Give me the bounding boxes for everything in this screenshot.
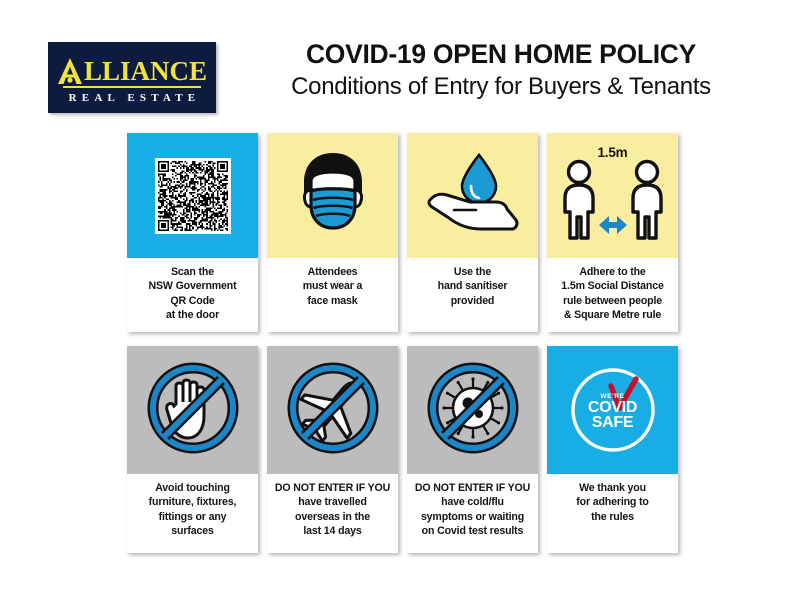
no-virus-icon [423,358,523,463]
qr-code-canvas [158,161,228,231]
card-no-touching: Avoid touching furniture, fixtures, fitt… [127,346,258,553]
logo-subtitle: REAL ESTATE [64,92,201,104]
card-text-area: Use the hand sanitiser provided [407,258,538,332]
card-text-area: Attendees must wear a face mask [267,258,398,332]
card-caption: DO NOT ENTER IF YOU have cold/flu sympto… [415,481,530,539]
qr-code-icon [155,158,231,234]
card-caption: Adhere to the 1.5m Social Distance rule … [561,265,663,323]
policy-card-grid: Scan the NSW Government QR Code at the d… [127,133,689,553]
face-mask-icon [292,149,374,242]
card-icon-area: 1.5m [547,133,678,258]
hand-sanitiser-icon [424,152,522,239]
card-social-distance: 1.5m [547,133,678,332]
poster-subtitle: Conditions of Entry for Buyers & Tenants [236,72,766,102]
covid-safe-line3: SAFE [567,415,659,431]
logo-wordmark-text: LLIANCE [84,58,207,85]
card-text-area: We thank you for adhering to the rules [547,474,678,553]
covid-policy-poster: LLIANCE REAL ESTATE COVID-19 OPEN HOME P… [0,0,800,600]
card-icon-area: WE'RE COVID SAFE [547,346,678,474]
no-airplane-icon [283,358,383,463]
card-text-area: DO NOT ENTER IF YOU have travelled overs… [267,474,398,553]
card-caption: Scan the NSW Government QR Code at the d… [149,265,237,323]
poster-title: COVID-19 OPEN HOME POLICY [236,38,766,70]
logo-wordmark: LLIANCE [57,55,207,85]
card-icon-area [407,133,538,258]
card-icon-area [267,133,398,258]
card-no-symptoms: DO NOT ENTER IF YOU have cold/flu sympto… [407,346,538,553]
card-row-bottom: Avoid touching furniture, fixtures, fitt… [127,346,689,553]
card-caption: Attendees must wear a face mask [303,265,363,308]
distance-label: 1.5m [547,145,678,160]
card-row-top: Scan the NSW Government QR Code at the d… [127,133,689,332]
card-icon-area [267,346,398,474]
card-icon-area [127,133,258,258]
logo-letter-a-house-icon [57,57,83,85]
card-icon-area [407,346,538,474]
social-distance-icon [557,159,669,248]
logo-underline [63,86,201,89]
card-caption: We thank you for adhering to the rules [576,481,649,524]
card-qr-code: Scan the NSW Government QR Code at the d… [127,133,258,332]
card-caption: Use the hand sanitiser provided [438,265,508,308]
card-text-area: Adhere to the 1.5m Social Distance rule … [547,258,678,332]
card-text-area: Avoid touching furniture, fixtures, fitt… [127,474,258,553]
title-block: COVID-19 OPEN HOME POLICY Conditions of … [236,38,766,102]
covid-safe-badge-icon: WE'RE COVID SAFE [567,364,659,456]
card-hand-sanitiser: Use the hand sanitiser provided [407,133,538,332]
card-no-overseas-travel: DO NOT ENTER IF YOU have travelled overs… [267,346,398,553]
card-text-area: Scan the NSW Government QR Code at the d… [127,258,258,332]
card-caption: DO NOT ENTER IF YOU have travelled overs… [275,481,390,539]
card-text-area: DO NOT ENTER IF YOU have cold/flu sympto… [407,474,538,553]
no-touching-hand-icon [143,358,243,463]
card-icon-area [127,346,258,474]
card-face-mask: Attendees must wear a face mask [267,133,398,332]
card-caption: Avoid touching furniture, fixtures, fitt… [149,481,237,539]
card-thank-you: WE'RE COVID SAFE We thank you for adheri… [547,346,678,553]
poster-header: LLIANCE REAL ESTATE COVID-19 OPEN HOME P… [0,38,800,118]
alliance-real-estate-logo: LLIANCE REAL ESTATE [48,42,216,113]
